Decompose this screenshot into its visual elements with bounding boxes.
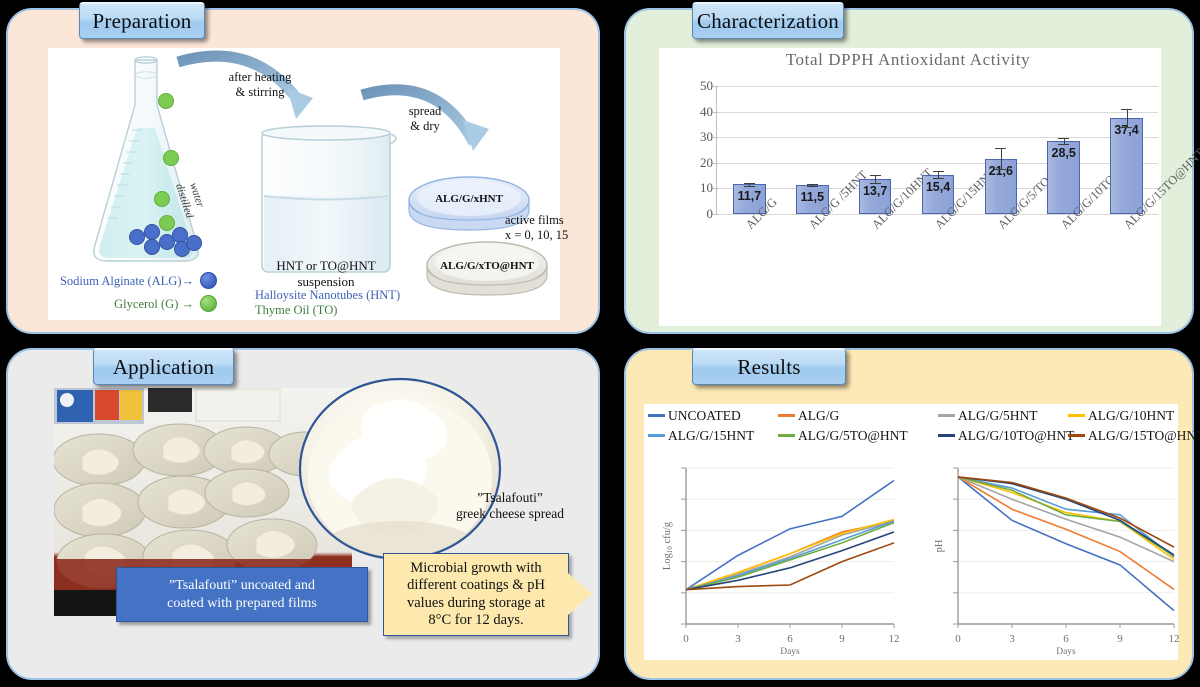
x-tick-label: 9 xyxy=(1117,633,1123,645)
note-thyme-oil: Thyme Oil (TO) xyxy=(255,303,337,317)
error-bar xyxy=(1127,109,1128,127)
bar-y-tick xyxy=(713,214,718,215)
badge-preparation: Preparation xyxy=(79,2,205,39)
error-bar-cap xyxy=(1058,144,1069,145)
legend-item: ALG/G/10TO@HNT xyxy=(938,426,1074,445)
label-dish-tohnt: ALG/G/xTO@HNT xyxy=(425,260,549,272)
legend-swatch-icon xyxy=(648,434,665,437)
note-halloysite: Halloysite Nanotubes (HNT) xyxy=(255,288,400,302)
error-bar-cap xyxy=(1121,127,1132,128)
error-bar-cap xyxy=(807,184,818,185)
bar-gridline xyxy=(718,112,1158,113)
dot-glycerol-icon xyxy=(200,295,217,312)
line-chart-svg: 036912DayspH xyxy=(928,460,1184,658)
bar-value-label: 11,7 xyxy=(734,189,765,203)
bar-y-tick-label: 30 xyxy=(700,129,713,145)
x-tick-label: 3 xyxy=(1009,633,1015,645)
error-bar-cap xyxy=(933,178,944,179)
y-axis-title: pH xyxy=(934,539,945,552)
error-bar-cap xyxy=(1121,109,1132,110)
x-tick-label: 6 xyxy=(787,633,793,645)
x-axis-title: Days xyxy=(1056,647,1076,657)
x-tick-label: 0 xyxy=(955,633,961,645)
legend-swatch-icon xyxy=(778,434,795,437)
legend-item: ALG/G/15HNT xyxy=(648,426,754,445)
legend-swatch-icon xyxy=(778,414,795,417)
legend-item: ALG/G/10HNT xyxy=(1068,406,1174,425)
legend-label: ALG/G/5HNT xyxy=(958,408,1038,424)
beaker xyxy=(262,126,396,272)
cheese-caption: ”Tsalafouti” greek cheese spread xyxy=(430,490,590,522)
label-dish-hnt: ALG/G/xHNT xyxy=(418,193,520,205)
bar-chart-title: Total DPPH Antioxidant Activity xyxy=(657,50,1159,70)
legend-label: ALG/G/15TO@HNT xyxy=(1088,428,1200,444)
x-tick-label: 12 xyxy=(1169,633,1180,645)
x-tick-label: 0 xyxy=(683,633,689,645)
legend-swatch-icon xyxy=(1068,414,1085,417)
badge-results-label: Results xyxy=(737,357,800,378)
line-chart-svg: 036912DaysLog10 cfu/g xyxy=(648,460,904,658)
dot-alginate-icon xyxy=(200,272,217,289)
bar-value-label: 11,5 xyxy=(797,190,828,204)
x-tick-label: 6 xyxy=(1063,633,1069,645)
legend-label: UNCOATED xyxy=(668,408,741,424)
bar-y-axis xyxy=(716,86,717,214)
badge-results: Results xyxy=(692,348,846,385)
legend-label: ALG/G xyxy=(798,408,839,424)
error-bar xyxy=(938,171,939,179)
error-bar-cap xyxy=(870,175,881,176)
callout-arrow-icon xyxy=(568,573,592,615)
legend-item: ALG/G/5TO@HNT xyxy=(778,426,908,445)
ph-line-chart: 036912DayspH xyxy=(928,460,1184,658)
badge-characterization-label: Characterization xyxy=(697,11,839,32)
legend-swatch-icon xyxy=(938,434,955,437)
graphical-abstract: distilled water xyxy=(0,0,1200,687)
label-after-heating: after heating & stirring xyxy=(205,70,315,100)
bar-gridline xyxy=(718,163,1158,164)
error-bar-cap xyxy=(933,171,944,172)
legend-item: ALG/G xyxy=(778,406,839,425)
legend-label: ALG/G/10HNT xyxy=(1088,408,1174,424)
legend-swatch-icon xyxy=(938,414,955,417)
legend-label: ALG/G/5TO@HNT xyxy=(798,428,908,444)
legend-item: UNCOATED xyxy=(648,406,741,425)
series-line xyxy=(958,477,1174,557)
bar-value-label: 13,7 xyxy=(860,184,891,198)
y-axis-title: Log10 cfu/g xyxy=(662,521,674,570)
bar-y-tick-label: 20 xyxy=(700,155,713,171)
bar-value-label: 15,4 xyxy=(923,180,954,194)
error-bar xyxy=(875,175,876,183)
error-bar-cap xyxy=(1058,138,1069,139)
legend-sodium-alginate: Sodium Alginate (ALG)→ xyxy=(58,274,194,288)
bar-y-tick-label: 40 xyxy=(700,104,713,120)
x-tick-label: 9 xyxy=(839,633,845,645)
legend-item: ALG/G/5HNT xyxy=(938,406,1038,425)
x-tick-label: 3 xyxy=(735,633,741,645)
legend-label: ALG/G/15HNT xyxy=(668,428,754,444)
bar-value-label: 28,5 xyxy=(1048,146,1079,160)
legend-item: ALG/G/15TO@HNT xyxy=(1068,426,1200,445)
series-line xyxy=(958,477,1174,590)
series-line xyxy=(958,477,1174,562)
legend-swatch-icon xyxy=(1068,434,1085,437)
error-bar-cap xyxy=(744,183,755,184)
label-spread-dry: spread & dry xyxy=(383,104,467,134)
label-active-films: active films x = 0, 10, 15 xyxy=(505,213,589,243)
x-axis-title: Days xyxy=(780,647,800,657)
legend-glycerol: Glycerol (G) → xyxy=(58,297,194,311)
badge-characterization: Characterization xyxy=(692,2,844,39)
error-bar-cap xyxy=(870,183,881,184)
error-bar-cap xyxy=(995,148,1006,149)
bar-chart-plot: 0102030405011,7ALG/G11,5ALG/G /5HNT13,7A… xyxy=(718,86,1158,214)
bar: 37,4 xyxy=(1110,118,1143,214)
callout-tsalafouti: ”Tsalafouti” uncoated and coated with pr… xyxy=(116,567,368,622)
error-bar-cap xyxy=(807,186,818,187)
badge-application: Application xyxy=(93,348,234,385)
error-bar-cap xyxy=(744,186,755,187)
bar-y-tick-label: 50 xyxy=(700,78,713,94)
bar-gridline xyxy=(718,137,1158,138)
label-beaker: HNT or TO@HNT suspension xyxy=(262,258,390,290)
badge-preparation-label: Preparation xyxy=(93,11,192,32)
legend-label: ALG/G/10TO@HNT xyxy=(958,428,1074,444)
bar-gridline xyxy=(718,86,1158,87)
legend-swatch-icon xyxy=(648,414,665,417)
error-bar xyxy=(1001,148,1002,168)
error-bar-cap xyxy=(995,169,1006,170)
growth-line-chart: 036912DaysLog10 cfu/g xyxy=(648,460,904,658)
badge-application-label: Application xyxy=(113,357,214,378)
callout-microbial-growth: Microbial growth with different coatings… xyxy=(383,553,569,636)
results-legend: UNCOATEDALG/GALG/G/5HNTALG/G/10HNTALG/G/… xyxy=(648,406,1182,448)
bar-y-tick-label: 10 xyxy=(700,180,713,196)
x-tick-label: 12 xyxy=(889,633,900,645)
